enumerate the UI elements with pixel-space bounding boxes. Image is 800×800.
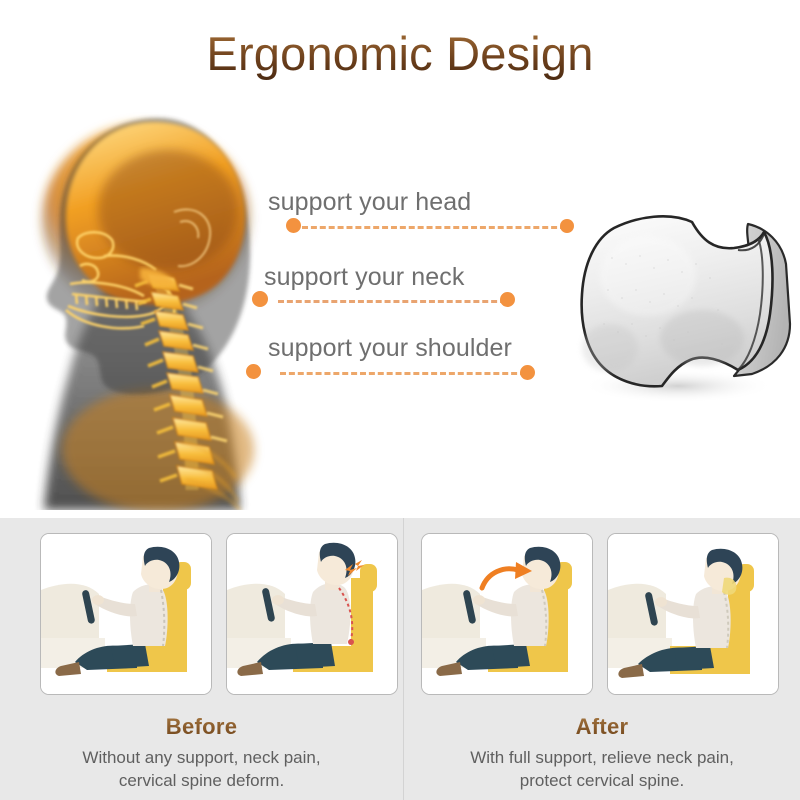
- callout-neck-dot-start: [252, 291, 268, 307]
- top-section: Ergonomic Design: [0, 0, 800, 518]
- callout-shoulder-line: [280, 372, 526, 375]
- callout-neck-label: support your neck: [264, 263, 464, 292]
- callout-shoulder-label: support your shoulder: [268, 334, 512, 363]
- callout-head-line: [302, 226, 566, 229]
- before-panel-2: [226, 533, 398, 695]
- after-description: With full support, relieve neck pain, pr…: [404, 746, 800, 792]
- after-panels: [421, 533, 779, 695]
- callout-shoulder-dot-end: [520, 365, 535, 380]
- after-line-1: With full support, relieve neck pain,: [404, 746, 800, 769]
- callout-neck-dot-end: [500, 292, 515, 307]
- before-line-2: cervical spine deform.: [0, 769, 403, 792]
- before-panels: [40, 533, 398, 695]
- after-panel-1: [421, 533, 593, 695]
- before-group: Before Without any support, neck pain, c…: [0, 518, 403, 800]
- callout-neck: support your neck: [264, 263, 584, 319]
- after-panel-2: [607, 533, 779, 695]
- callout-head-label: support your head: [268, 188, 471, 217]
- before-panel-1: [40, 533, 212, 695]
- callout-neck-line: [278, 300, 506, 303]
- after-title: After: [404, 714, 800, 740]
- callout-shoulder: support your shoulder: [268, 334, 598, 390]
- after-line-2: protect cervical spine.: [404, 769, 800, 792]
- before-title: Before: [0, 714, 403, 740]
- product-pillow-image: [552, 198, 796, 410]
- callout-shoulder-dot-start: [246, 364, 261, 379]
- before-description: Without any support, neck pain, cervical…: [0, 746, 403, 792]
- callout-head-dot-start: [286, 218, 301, 233]
- cervical-spine-xray-illustration: [8, 70, 308, 510]
- product-infographic: Ergonomic Design: [0, 0, 800, 800]
- after-group: After With full support, relieve neck pa…: [404, 518, 800, 800]
- callout-head: support your head: [268, 188, 588, 244]
- before-line-1: Without any support, neck pain,: [0, 746, 403, 769]
